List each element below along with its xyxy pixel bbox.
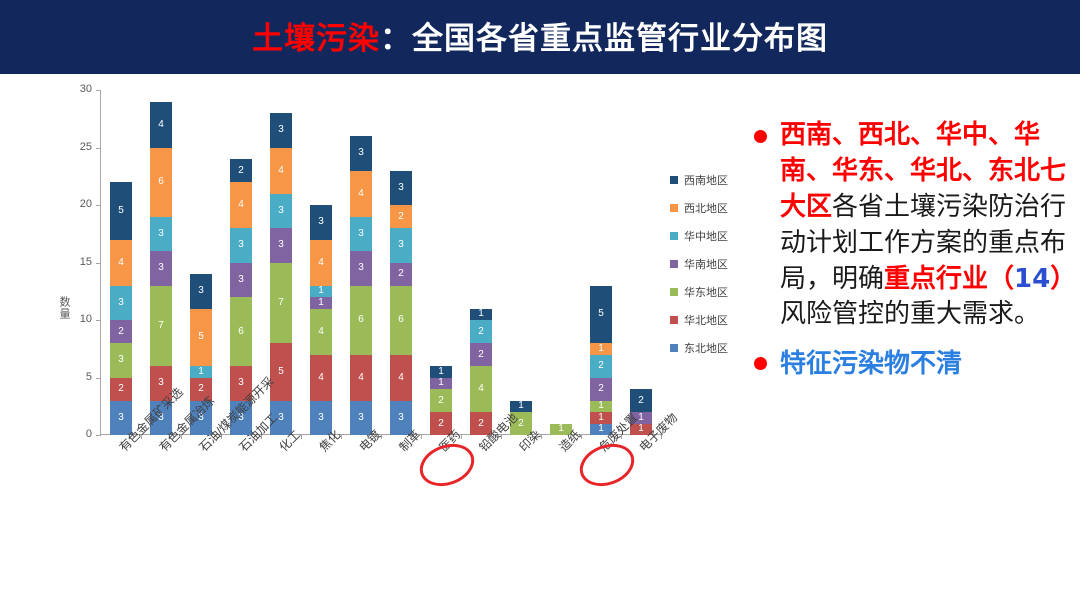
- y-tick-label: 10: [62, 313, 92, 325]
- bar-segment[interactable]: 3: [390, 228, 412, 263]
- bar-segment[interactable]: 2: [430, 389, 452, 412]
- bar-segment[interactable]: 4: [310, 240, 332, 286]
- bar-segment[interactable]: 5: [190, 309, 212, 367]
- bar-column[interactable]: 1112215: [590, 286, 612, 436]
- text-panel: 西南、西北、华中、华南、华东、华北、东北七大区各省土壤污染防治行动计划工作方案的…: [742, 118, 1080, 588]
- bar-segment[interactable]: 1: [430, 366, 452, 378]
- legend-swatch-icon: [670, 316, 678, 324]
- bar-segment[interactable]: 6: [150, 148, 172, 217]
- bar-segment[interactable]: 2: [630, 389, 652, 412]
- legend-swatch-icon: [670, 260, 678, 268]
- bar-segment[interactable]: 3: [390, 171, 412, 206]
- bar-segment[interactable]: 3: [110, 343, 132, 378]
- bullet-1-segment: （: [988, 264, 1014, 294]
- bar-segment[interactable]: 3: [190, 274, 212, 309]
- legend-label: 东北地区: [684, 340, 728, 356]
- legend-item[interactable]: 华东地区: [670, 284, 728, 300]
- bullet-dot-icon: [754, 357, 767, 370]
- bar-column[interactable]: 2211: [430, 366, 452, 435]
- y-tick-label: 15: [62, 256, 92, 268]
- bar-segment[interactable]: 1: [430, 378, 452, 390]
- bar-segment[interactable]: 4: [350, 171, 372, 217]
- bullet-2-text: 特征污染物不清: [780, 347, 1080, 383]
- bar-segment[interactable]: 4: [110, 240, 132, 286]
- legend-label: 华北地区: [684, 312, 728, 328]
- bar-segment[interactable]: 5: [270, 343, 292, 401]
- legend-label: 华南地区: [684, 256, 728, 272]
- legend-swatch-icon: [670, 176, 678, 184]
- legend-swatch-icon: [670, 232, 678, 240]
- bullet-item-2: 特征污染物不清: [742, 347, 1080, 383]
- highlight-medicine: [414, 437, 480, 494]
- y-tick-label: 20: [62, 198, 92, 210]
- bar-segment[interactable]: 5: [110, 182, 132, 240]
- bars-layer: 3232345337336432153336334235733433441143…: [101, 90, 661, 435]
- bar-segment[interactable]: 1: [310, 286, 332, 298]
- page-title: 土壤污染：全国各省重点监管行业分布图: [252, 13, 828, 58]
- bar-segment[interactable]: 5: [590, 286, 612, 344]
- bar-segment[interactable]: 3: [150, 251, 172, 286]
- legend-item[interactable]: 华中地区: [670, 228, 728, 244]
- bar-segment[interactable]: 6: [350, 286, 372, 355]
- bar-segment[interactable]: 4: [150, 102, 172, 148]
- bar-segment[interactable]: 3: [350, 251, 372, 286]
- bar-segment[interactable]: 3: [270, 113, 292, 148]
- bar-segment[interactable]: 2: [470, 343, 492, 366]
- bar-column[interactable]: 3232345: [110, 182, 132, 435]
- legend-item[interactable]: 西南地区: [670, 172, 728, 188]
- legend-swatch-icon: [670, 344, 678, 352]
- bar-segment[interactable]: 4: [350, 355, 372, 401]
- bar-segment[interactable]: 2: [590, 378, 612, 401]
- slide-title-bar: 土壤污染：全国各省重点监管行业分布图: [0, 0, 1080, 70]
- bar-segment[interactable]: 3: [270, 228, 292, 263]
- bar-segment[interactable]: 4: [270, 148, 292, 194]
- legend-label: 西南地区: [684, 172, 728, 188]
- bar-segment[interactable]: 2: [390, 263, 412, 286]
- y-tick-label: 25: [62, 141, 92, 153]
- bar-segment[interactable]: 1: [470, 309, 492, 321]
- bar-segment[interactable]: 3: [270, 194, 292, 229]
- bar-segment[interactable]: 4: [230, 182, 252, 228]
- page-title-highlight: 土壤污染: [252, 21, 380, 56]
- bar-segment[interactable]: 1: [310, 297, 332, 309]
- bar-segment[interactable]: 4: [470, 366, 492, 412]
- bar-segment[interactable]: 2: [390, 205, 412, 228]
- bar-segment[interactable]: 4: [390, 355, 412, 401]
- bullet-1-segment: 重点行业: [884, 264, 988, 294]
- highlight-hazardous-waste: [574, 437, 640, 494]
- bar-column[interactable]: 3373364: [150, 102, 172, 436]
- bar-segment[interactable]: 7: [150, 286, 172, 367]
- bar-segment[interactable]: 3: [110, 286, 132, 321]
- bullet-item-1: 西南、西北、华中、华南、华东、华北、东北七大区各省土壤污染防治行动计划工作方案的…: [742, 118, 1080, 333]
- bar-segment[interactable]: 2: [590, 355, 612, 378]
- legend-item[interactable]: 西北地区: [670, 200, 728, 216]
- legend-item[interactable]: 东北地区: [670, 340, 728, 356]
- bar-column[interactable]: 3441143: [310, 205, 332, 435]
- bar-segment[interactable]: 3: [350, 136, 372, 171]
- y-tick-label: 0: [62, 428, 92, 440]
- bar-segment[interactable]: 3: [350, 217, 372, 252]
- bullet-dot-icon: [754, 130, 767, 143]
- legend-label: 西北地区: [684, 200, 728, 216]
- bar-segment[interactable]: 7: [270, 263, 292, 344]
- bar-segment[interactable]: 2: [110, 320, 132, 343]
- chart-container: 数量 051015202530 323234533733643215333633…: [0, 78, 740, 607]
- legend-label: 华中地区: [684, 228, 728, 244]
- bar-segment[interactable]: 4: [310, 355, 332, 401]
- bar-segment[interactable]: 6: [390, 286, 412, 355]
- legend-item[interactable]: 华南地区: [670, 256, 728, 272]
- legend-label: 华东地区: [684, 284, 728, 300]
- bar-segment[interactable]: 3: [150, 217, 172, 252]
- bar-segment[interactable]: 1: [590, 401, 612, 413]
- bar-segment[interactable]: 1: [590, 412, 612, 424]
- bar-segment[interactable]: 1: [590, 343, 612, 355]
- bar-segment[interactable]: 4: [310, 309, 332, 355]
- bullet-1-segment: 14: [1014, 264, 1050, 294]
- bar-segment[interactable]: 3: [230, 263, 252, 298]
- bullet-1-segment: 风险管控的重大需求。: [780, 299, 1040, 329]
- bar-segment[interactable]: 3: [230, 228, 252, 263]
- bar-segment[interactable]: 2: [110, 378, 132, 401]
- legend-swatch-icon: [670, 204, 678, 212]
- bar-segment[interactable]: 3: [310, 205, 332, 240]
- bar-segment[interactable]: 2: [470, 320, 492, 343]
- y-tick-label: 30: [62, 83, 92, 95]
- bullet-1-text: 西南、西北、华中、华南、华东、华北、东北七大区各省土壤污染防治行动计划工作方案的…: [780, 118, 1080, 333]
- page-title-rest: ：全国各省重点监管行业分布图: [380, 21, 828, 56]
- chart-legend: 西南地区西北地区华中地区华南地区华东地区华北地区东北地区: [670, 172, 728, 356]
- y-tick-label: 5: [62, 371, 92, 383]
- bar-column[interactable]: 3463343: [350, 136, 372, 435]
- bar-segment[interactable]: 2: [230, 159, 252, 182]
- bar-column[interactable]: 24221: [470, 309, 492, 436]
- legend-swatch-icon: [670, 288, 678, 296]
- bar-segment[interactable]: 1: [190, 366, 212, 378]
- y-tick-mark: [96, 435, 101, 436]
- bar-segment[interactable]: 1: [510, 401, 532, 413]
- bullet-1-segment: ）: [1050, 264, 1076, 294]
- bar-column[interactable]: 3462323: [390, 171, 412, 436]
- legend-item[interactable]: 华北地区: [670, 312, 728, 328]
- title-underline: [0, 70, 1080, 74]
- bar-segment[interactable]: 6: [230, 297, 252, 366]
